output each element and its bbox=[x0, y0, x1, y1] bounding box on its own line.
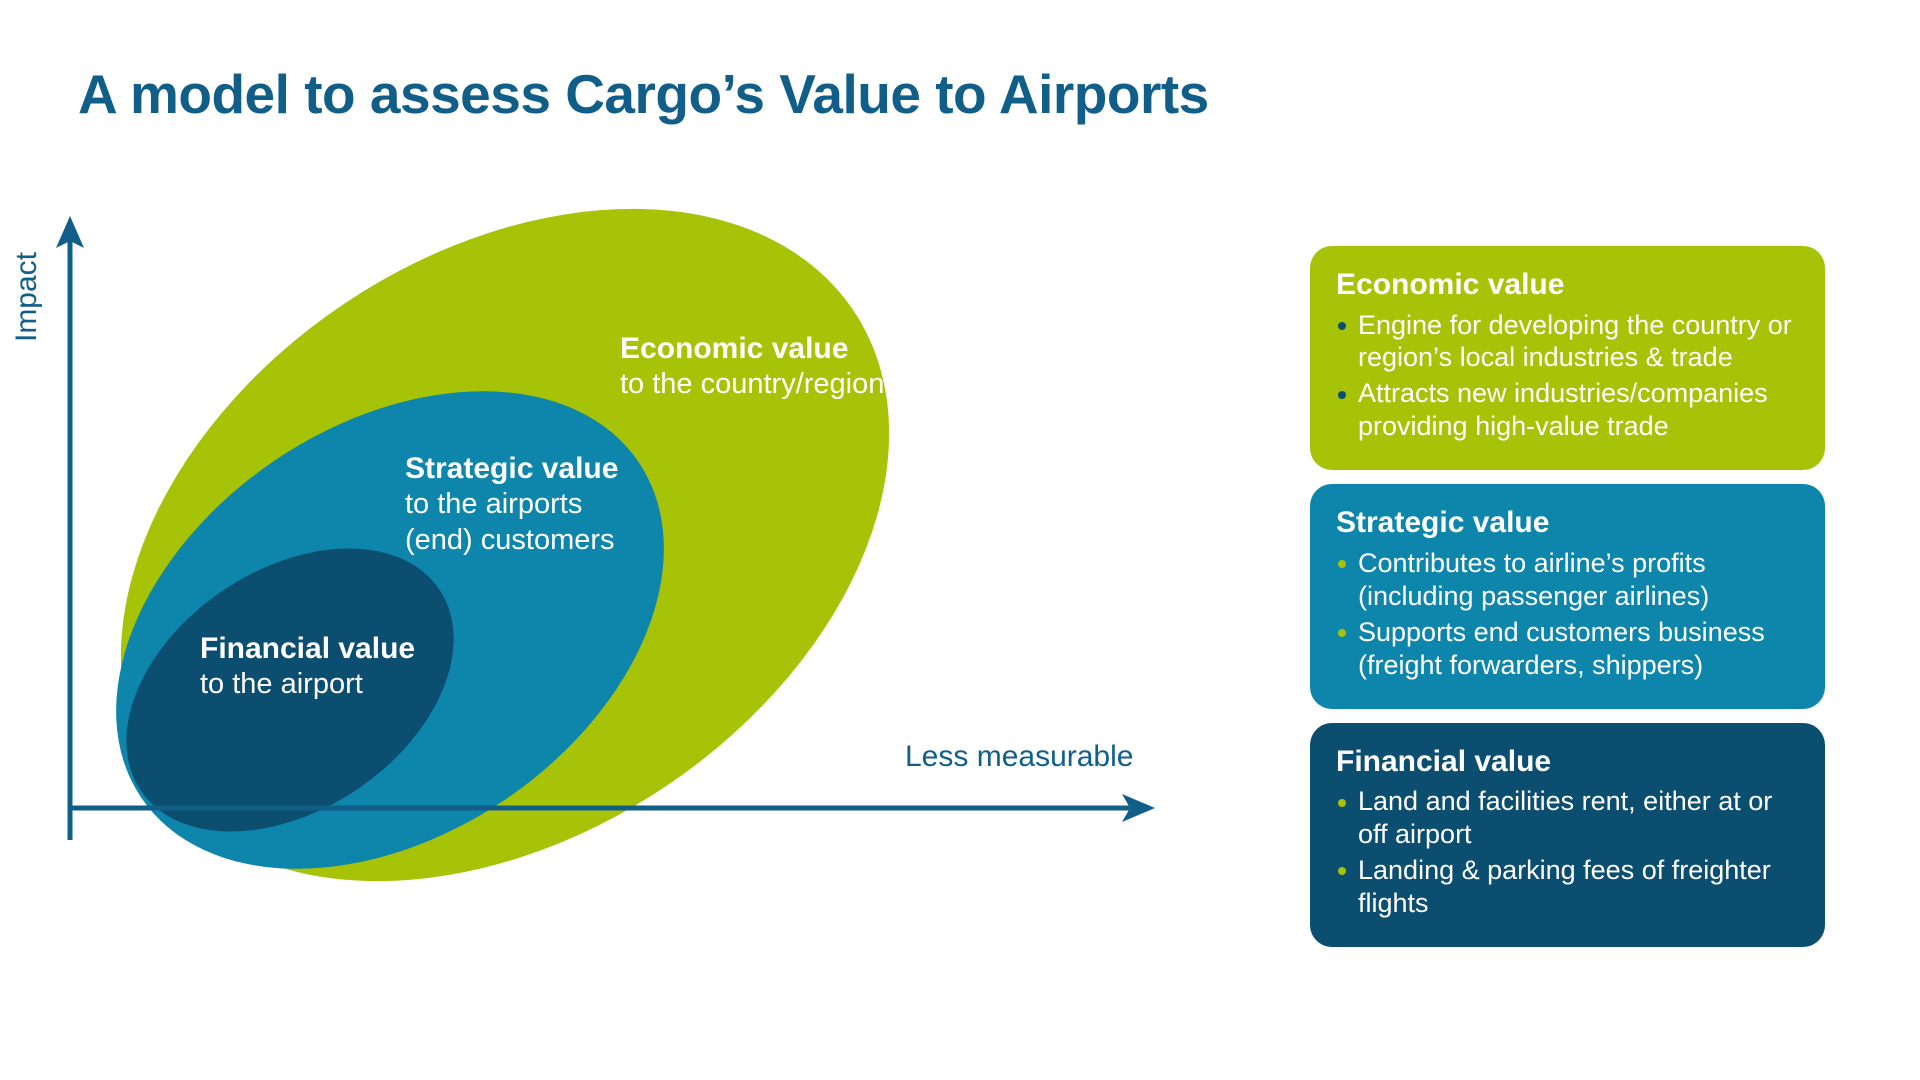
y-axis-label: Impact bbox=[10, 252, 44, 342]
card-strategic-bullets: Contributes to airline’s profits (includ… bbox=[1336, 547, 1799, 682]
ellipse-label-strategic: Strategic value to the airports (end) cu… bbox=[405, 450, 618, 559]
ellipse-strategic-subtitle-line2: (end) customers bbox=[405, 523, 618, 559]
card-financial-title: Financial value bbox=[1336, 745, 1799, 780]
bullet-text: Engine for developing the country or reg… bbox=[1358, 310, 1792, 373]
bullet-dot-icon bbox=[1338, 867, 1346, 875]
list-item: Attracts new industries/companies provid… bbox=[1336, 377, 1799, 443]
card-strategic-value: Strategic value Contributes to airline’s… bbox=[1310, 484, 1825, 708]
card-financial-bullets: Land and facilities rent, either at or o… bbox=[1336, 785, 1799, 920]
bullet-text: Contributes to airline’s profits (includ… bbox=[1358, 548, 1709, 611]
ellipse-strategic-subtitle-line1: to the airports bbox=[405, 487, 618, 523]
bullet-dot-icon bbox=[1338, 799, 1346, 807]
card-financial-value: Financial value Land and facilities rent… bbox=[1310, 723, 1825, 947]
ellipse-financial-subtitle: to the airport bbox=[200, 667, 415, 703]
bullet-dot-icon bbox=[1338, 560, 1346, 568]
list-item: Contributes to airline’s profits (includ… bbox=[1336, 547, 1799, 613]
list-item: Landing & parking fees of freighter flig… bbox=[1336, 854, 1799, 920]
bullet-dot-icon bbox=[1338, 629, 1346, 637]
ellipse-label-economic: Economic value to the country/region bbox=[620, 330, 884, 403]
bullet-text: Attracts new industries/companies provid… bbox=[1358, 378, 1768, 441]
card-economic-bullets: Engine for developing the country or reg… bbox=[1336, 309, 1799, 444]
list-item: Engine for developing the country or reg… bbox=[1336, 309, 1799, 375]
ellipse-label-financial: Financial value to the airport bbox=[200, 630, 415, 703]
x-axis-label: Less measurable bbox=[905, 740, 1133, 774]
value-cards-panel: Economic value Engine for developing the… bbox=[1310, 246, 1825, 961]
bullet-text: Landing & parking fees of freighter flig… bbox=[1358, 855, 1771, 918]
diagram-canvas bbox=[0, 200, 1200, 1060]
ellipse-economic-title: Economic value bbox=[620, 330, 884, 367]
bullet-text: Land and facilities rent, either at or o… bbox=[1358, 786, 1772, 849]
ellipse-economic-subtitle: to the country/region bbox=[620, 367, 884, 403]
ellipse-strategic-title: Strategic value bbox=[405, 450, 618, 487]
card-economic-value: Economic value Engine for developing the… bbox=[1310, 246, 1825, 470]
list-item: Land and facilities rent, either at or o… bbox=[1336, 785, 1799, 851]
page-title: A model to assess Cargo’s Value to Airpo… bbox=[78, 62, 1209, 126]
list-item: Supports end customers business (freight… bbox=[1336, 616, 1799, 682]
bullet-dot-icon bbox=[1338, 391, 1346, 399]
bullet-dot-icon bbox=[1338, 322, 1346, 330]
value-model-diagram: Impact Less measurable Economic value to… bbox=[0, 200, 1200, 1060]
card-economic-title: Economic value bbox=[1336, 268, 1799, 303]
card-strategic-title: Strategic value bbox=[1336, 506, 1799, 541]
bullet-text: Supports end customers business (freight… bbox=[1358, 617, 1765, 680]
ellipse-financial-title: Financial value bbox=[200, 630, 415, 667]
